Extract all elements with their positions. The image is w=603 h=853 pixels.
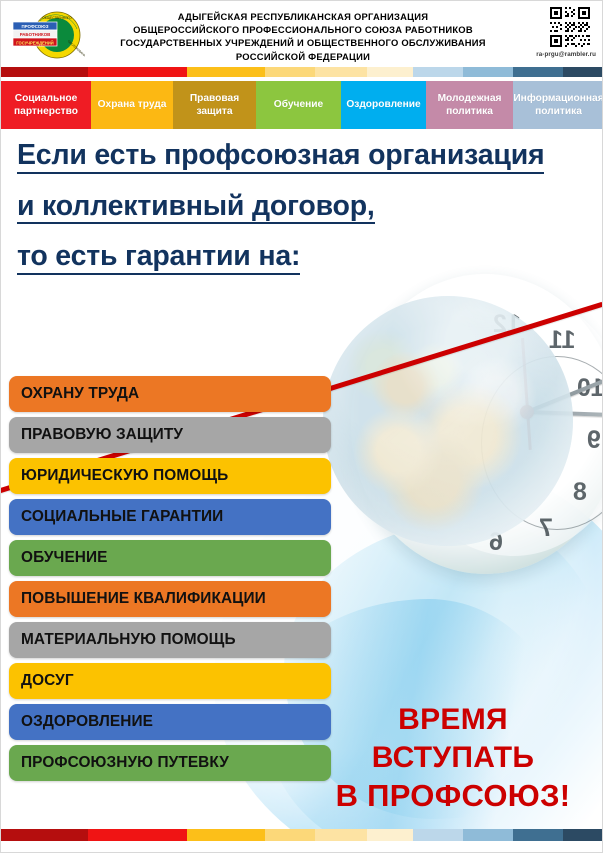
union-logo: ОБЩЕСТВЕННОГО ОБСЛУЖИВАНИЯ ПРОФСОЮЗ РАБО… <box>9 10 85 60</box>
slogan-line-3: В ПРОФСОЮЗ! <box>318 777 588 815</box>
benefit-bar-10: ПРОФСОЮЗНУЮ ПУТЕВКУ <box>9 745 331 781</box>
nav-tab-1[interactable]: Социальное партнерство <box>1 81 91 129</box>
org-title-line-4: РОССИЙСКОЙ ФЕДЕРАЦИИ <box>93 50 513 63</box>
rainbow-segment-8 <box>463 829 513 841</box>
benefit-bar-1: ОХРАНУ ТРУДА <box>9 376 331 412</box>
clock-number-9: 9 <box>587 426 601 455</box>
rainbow-segment-4 <box>265 67 315 77</box>
clock-number-8: 8 <box>573 478 587 507</box>
benefit-bar-9: ОЗДОРОВЛЕНИЕ <box>9 704 331 740</box>
benefit-bar-6: ПОВЫШЕНИЕ КВАЛИФИКАЦИИ <box>9 581 331 617</box>
rainbow-segment-1 <box>1 829 88 841</box>
nav-tab-5[interactable]: Оздоровление <box>341 81 426 129</box>
nav-tab-2[interactable]: Охрана труда <box>91 81 173 129</box>
union-logo-svg: ОБЩЕСТВЕННОГО ОБСЛУЖИВАНИЯ ПРОФСОЮЗ РАБО… <box>9 10 85 60</box>
rainbow-segment-7 <box>413 829 463 841</box>
nav-tab-3[interactable]: Правовая защита <box>173 81 256 129</box>
rainbow-strip-top <box>1 67 603 77</box>
svg-text:ОБЩЕСТВЕННОГО: ОБЩЕСТВЕННОГО <box>42 16 72 20</box>
headline-line-3: то есть гарантии на: <box>17 242 300 275</box>
rainbow-segment-5 <box>315 67 366 77</box>
rainbow-strip-bottom <box>1 829 603 841</box>
benefit-bar-8: ДОСУГ <box>9 663 331 699</box>
call-to-action-slogan: ВРЕМЯ ВСТУПАТЬ В ПРОФСОЮЗ! <box>318 701 588 815</box>
benefit-bar-7: МАТЕРИАЛЬНУЮ ПОМОЩЬ <box>9 622 331 658</box>
rainbow-segment-1 <box>1 67 88 77</box>
rainbow-segment-3 <box>187 829 266 841</box>
globe-highlight-overlay <box>323 296 573 546</box>
benefit-bar-5: ОБУЧЕНИЕ <box>9 540 331 576</box>
org-title-line-1: АДЫГЕЙСКАЯ РЕСПУБЛИКАНСКАЯ ОРГАНИЗАЦИЯ <box>93 10 513 23</box>
nav-tab-4[interactable]: Обучение <box>256 81 341 129</box>
slogan-line-1: ВРЕМЯ <box>318 701 588 739</box>
nav-tab-6[interactable]: Молодежная политика <box>426 81 513 129</box>
benefits-list: ОХРАНУ ТРУДАПРАВОВУЮ ЗАЩИТУЮРИДИЧЕСКУЮ П… <box>9 376 331 786</box>
benefit-bar-3: ЮРИДИЧЕСКУЮ ПОМОЩЬ <box>9 458 331 494</box>
rainbow-segment-10 <box>563 829 603 841</box>
rainbow-segment-4 <box>265 829 315 841</box>
rainbow-segment-3 <box>187 67 266 77</box>
org-title-line-3: ГОСУДАРСТВЕННЫХ УЧРЕЖДЕНИЙ И ОБЩЕСТВЕННО… <box>93 36 513 49</box>
rainbow-segment-2 <box>88 67 187 77</box>
qr-code-icon <box>548 5 592 49</box>
rainbow-segment-9 <box>513 67 563 77</box>
qr-code-svg <box>548 5 592 49</box>
clock-number-11: 11 <box>549 326 575 355</box>
nav-tab-7[interactable]: Информационная политика <box>513 81 603 129</box>
rainbow-segment-7 <box>413 67 463 77</box>
category-nav: Социальное партнерствоОхрана трудаПравов… <box>1 81 603 129</box>
rainbow-segment-8 <box>463 67 513 77</box>
rainbow-segment-6 <box>367 829 413 841</box>
svg-text:ГОСУЧРЕЖДЕНИЙ: ГОСУЧРЕЖДЕНИЙ <box>16 40 53 45</box>
benefit-bar-4: СОЦИАЛЬНЫЕ ГАРАНТИИ <box>9 499 331 535</box>
headline-block: Если есть профсоюзная организация и колл… <box>17 141 597 293</box>
slogan-line-2: ВСТУПАТЬ <box>318 739 588 777</box>
globe-clock-composite: 12 11 10 9 8 7 6 <box>323 274 603 604</box>
organization-title: АДЫГЕЙСКАЯ РЕСПУБЛИКАНСКАЯ ОРГАНИЗАЦИЯ О… <box>93 10 513 63</box>
contact-email[interactable]: ra-prgu@rambler.ru <box>536 51 596 58</box>
rainbow-segment-9 <box>513 829 563 841</box>
poster-header: ОБЩЕСТВЕННОГО ОБСЛУЖИВАНИЯ ПРОФСОЮЗ РАБО… <box>1 1 603 67</box>
headline-line-1: Если есть профсоюзная организация <box>17 141 544 174</box>
headline-line-2: и коллективный договор, <box>17 192 375 225</box>
rainbow-segment-5 <box>315 829 366 841</box>
poster-root: ОБЩЕСТВЕННОГО ОБСЛУЖИВАНИЯ ПРОФСОЮЗ РАБО… <box>0 0 603 853</box>
rainbow-segment-6 <box>367 67 413 77</box>
svg-text:РАБОТНИКОВ: РАБОТНИКОВ <box>20 32 51 37</box>
rainbow-segment-2 <box>88 829 187 841</box>
clock-number-7: 7 <box>539 514 553 543</box>
org-title-line-2: ОБЩЕРОССИЙСКОГО ПРОФЕССИОНАЛЬНОГО СОЮЗА … <box>93 23 513 36</box>
benefit-bar-2: ПРАВОВУЮ ЗАЩИТУ <box>9 417 331 453</box>
rainbow-segment-10 <box>563 67 603 77</box>
svg-text:ПРОФСОЮЗ: ПРОФСОЮЗ <box>22 24 49 29</box>
